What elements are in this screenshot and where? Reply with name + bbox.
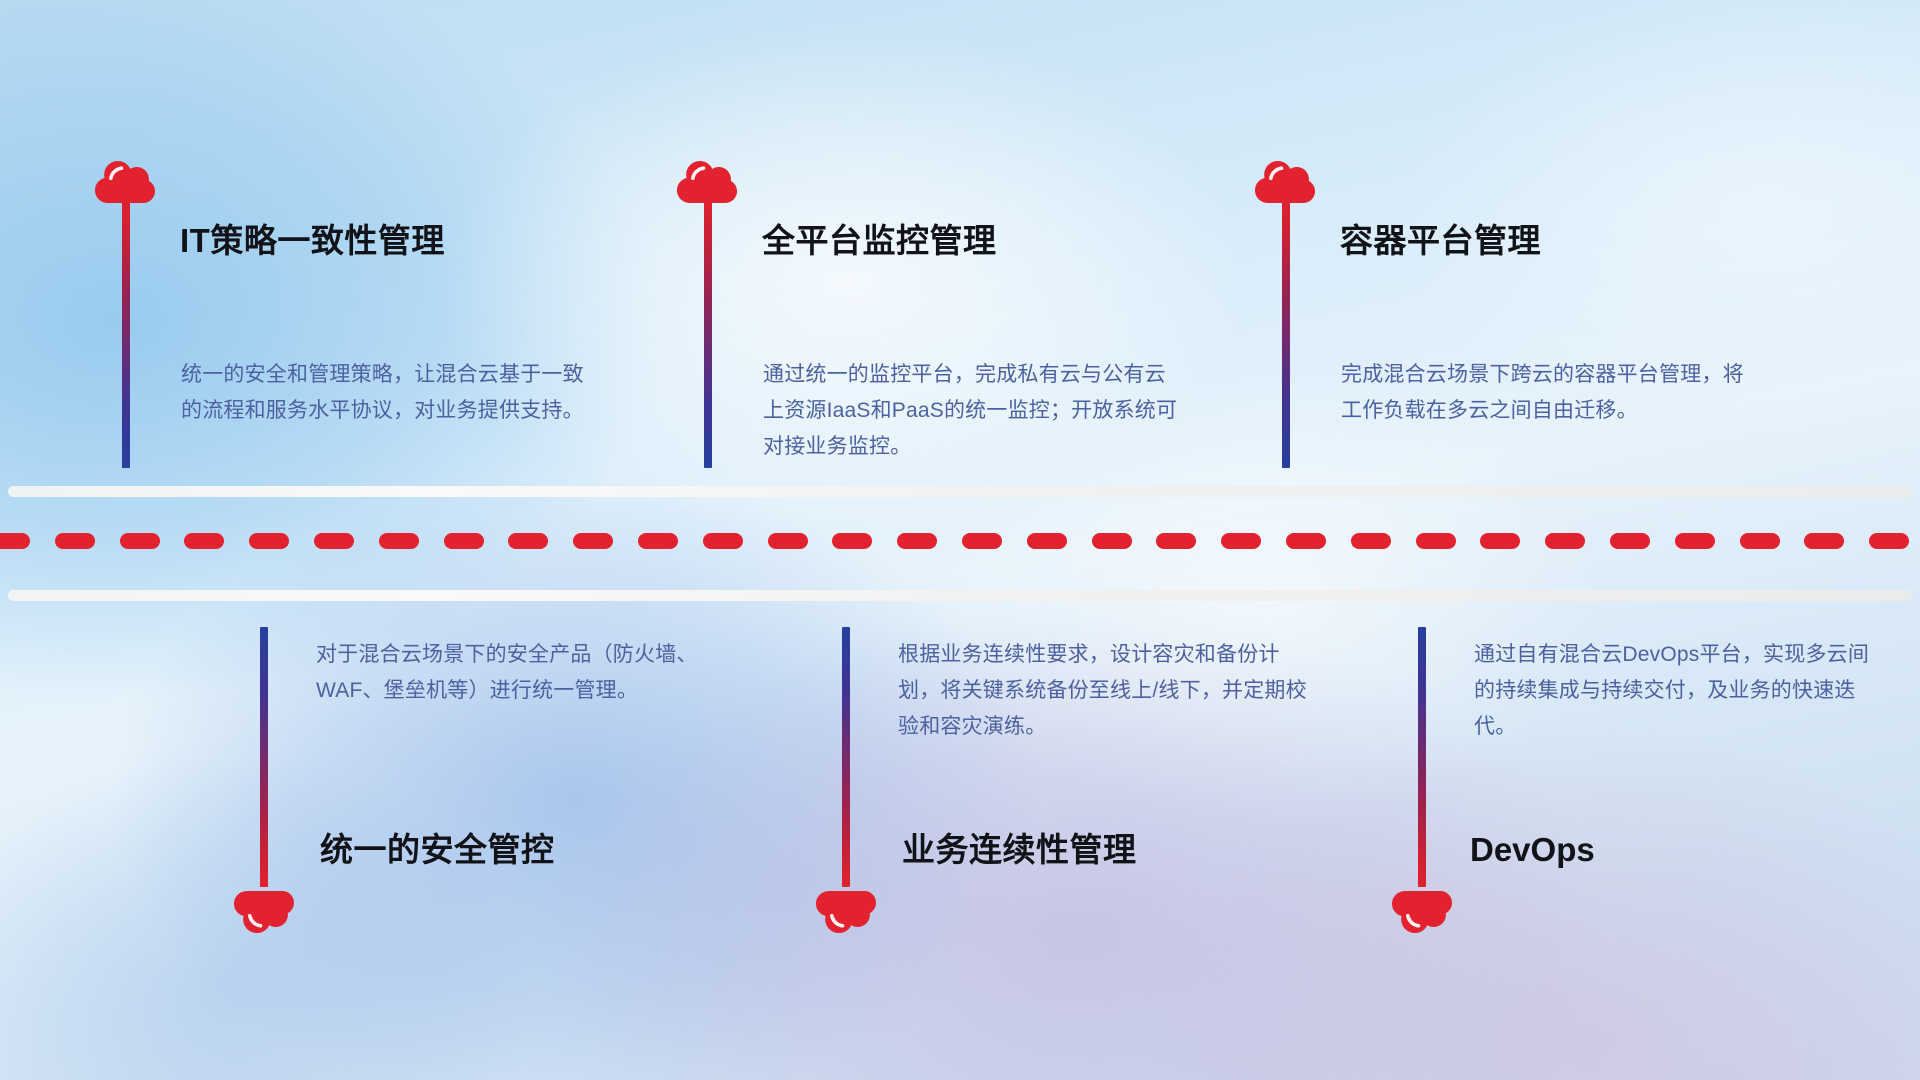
road-dash-segment xyxy=(444,533,509,549)
top-heading-2: 全平台监控管理 xyxy=(762,224,997,257)
road-dash-segment xyxy=(1416,533,1481,549)
road-dash-segment xyxy=(573,533,638,549)
road-dash-segment xyxy=(1351,533,1416,549)
road-rail-top xyxy=(8,486,1912,497)
road-dash-segment xyxy=(1675,533,1740,549)
bottom-body-1: 对于混合云场景下的安全产品（防火墙、WAF、堡垒机等）进行统一管理。 xyxy=(316,637,736,709)
bottom-heading-2: 业务连续性管理 xyxy=(902,833,1137,866)
timeline-stem xyxy=(704,200,712,468)
bottom-heading-1: 统一的安全管控 xyxy=(320,833,555,866)
road-dash-segment xyxy=(832,533,897,549)
road-dash-segment xyxy=(55,533,120,549)
timeline-stem xyxy=(842,627,850,887)
road-dash-segment xyxy=(120,533,185,549)
road-dash-segment xyxy=(0,533,55,549)
road-dash-segment xyxy=(1027,533,1092,549)
road-rail-bottom xyxy=(8,590,1912,601)
top-body-3: 完成混合云场景下跨云的容器平台管理，将工作负载在多云之间自由迁移。 xyxy=(1341,357,1761,429)
top-body-2: 通过统一的监控平台，完成私有云与公有云上资源IaaS和PaaS的统一监控；开放系… xyxy=(763,357,1181,465)
road-dash-segment xyxy=(897,533,962,549)
road-dash-segment xyxy=(1740,533,1805,549)
bottom-body-3: 通过自有混合云DevOps平台，实现多云间的持续集成与持续交付，及业务的快速迭代… xyxy=(1474,637,1874,745)
road-dash-segment xyxy=(1156,533,1221,549)
top-heading-3: 容器平台管理 xyxy=(1340,224,1541,257)
road-dash-segment xyxy=(249,533,314,549)
road-dash-segment xyxy=(1610,533,1675,549)
road-dash-segment xyxy=(379,533,444,549)
road-dash-segment xyxy=(1480,533,1545,549)
top-heading-1: IT策略一致性管理 xyxy=(180,224,445,257)
road-dash-segment xyxy=(768,533,833,549)
road-dash-segment xyxy=(638,533,703,549)
timeline-stem xyxy=(1282,200,1290,468)
timeline-stem xyxy=(122,200,130,468)
timeline-stem xyxy=(1418,627,1426,887)
road-dash-segment xyxy=(508,533,573,549)
top-body-1: 统一的安全和管理策略，让混合云基于一致的流程和服务水平协议，对业务提供支持。 xyxy=(181,357,601,429)
road-dash-segment xyxy=(314,533,379,549)
road-dash-segment xyxy=(1286,533,1351,549)
road-dash-segment xyxy=(703,533,768,549)
cloud-icon xyxy=(1254,158,1316,204)
timeline-stem xyxy=(260,627,268,887)
road-divider xyxy=(0,486,1920,606)
road-dash-segment xyxy=(184,533,249,549)
cloud-icon xyxy=(1391,890,1453,936)
infographic-canvas: IT策略一致性管理 统一的安全和管理策略，让混合云基于一致的流程和服务水平协议，… xyxy=(0,0,1920,1080)
road-dash-segment xyxy=(962,533,1027,549)
cloud-icon xyxy=(233,890,295,936)
bottom-heading-3: DevOps xyxy=(1470,833,1595,866)
road-dash-line xyxy=(0,533,1920,549)
road-dash-segment xyxy=(1804,533,1869,549)
road-dash-segment xyxy=(1092,533,1157,549)
road-dash-segment xyxy=(1221,533,1286,549)
cloud-icon xyxy=(815,890,877,936)
bottom-body-2: 根据业务连续性要求，设计容灾和备份计划，将关键系统备份至线上/线下，并定期校验和… xyxy=(898,637,1318,745)
road-dash-segment xyxy=(1869,533,1920,549)
cloud-icon xyxy=(94,158,156,204)
road-dash-segment xyxy=(1545,533,1610,549)
cloud-icon xyxy=(676,158,738,204)
